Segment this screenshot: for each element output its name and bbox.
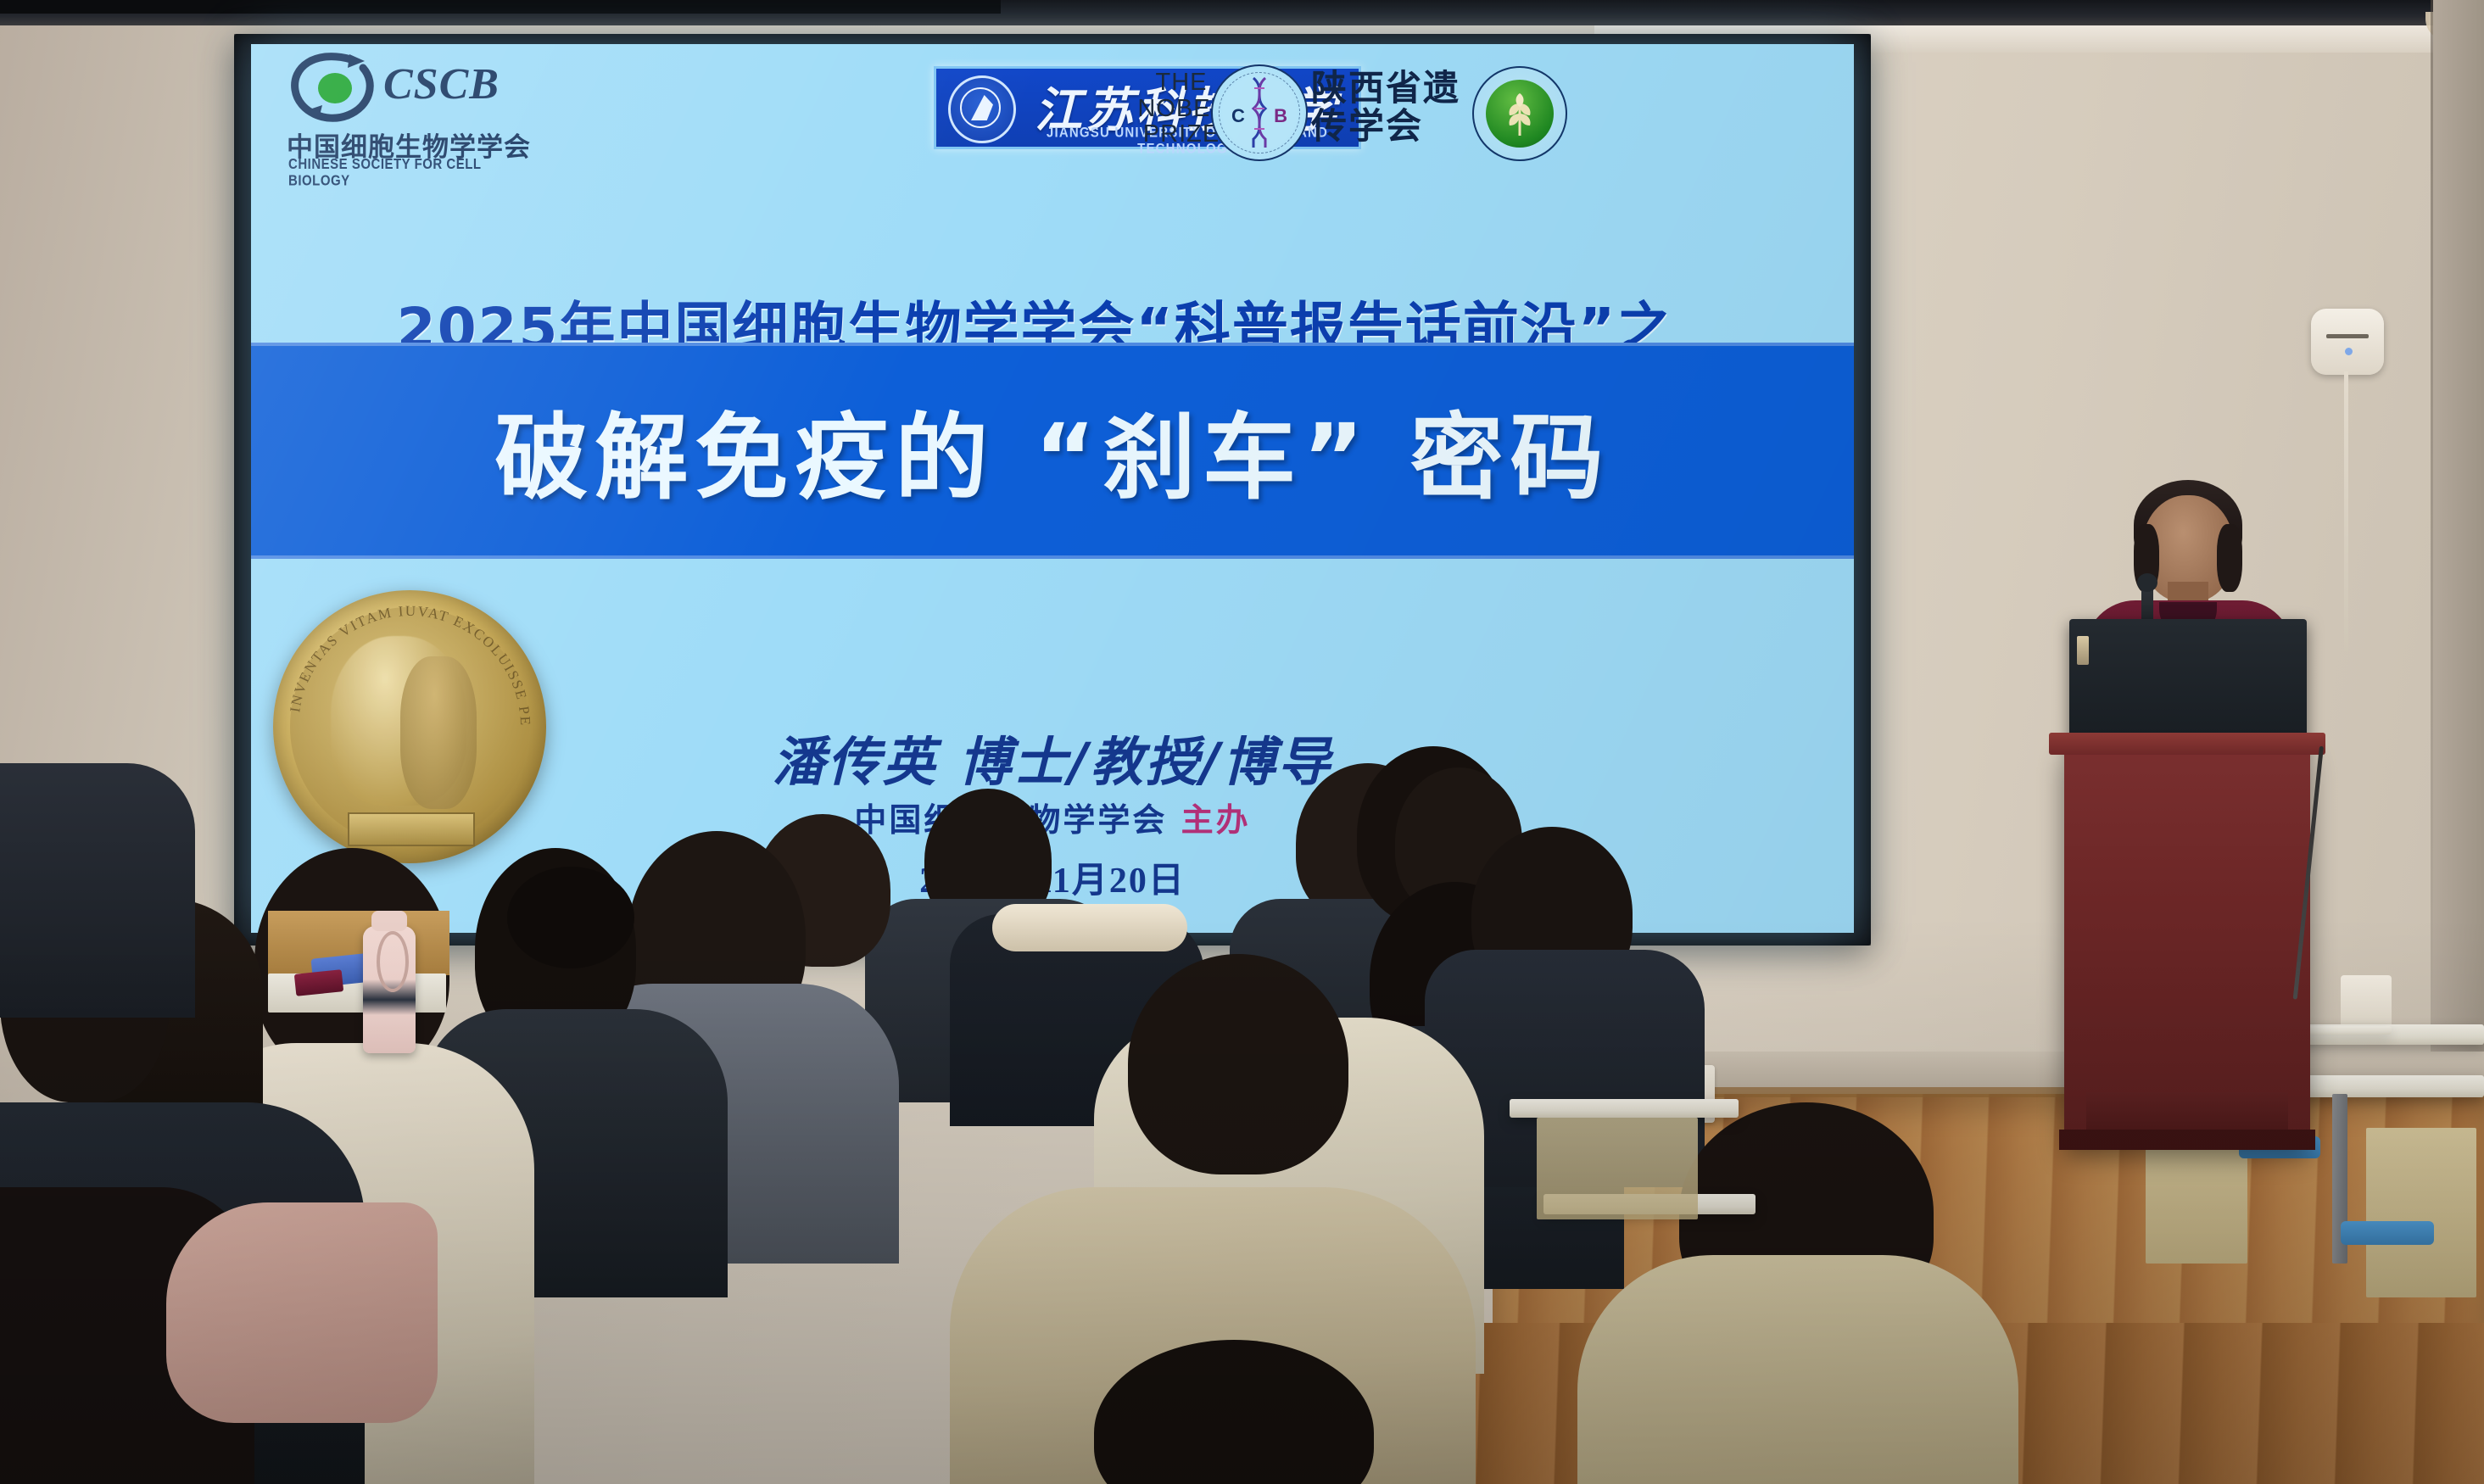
projection-screen: CSCB 中国细胞生物学学会 CHINESE SOCIETY FOR CELL … <box>251 44 1854 933</box>
wooden-lectern <box>2064 746 2310 1145</box>
dna-helix-icon <box>1251 76 1268 149</box>
water-bottle[interactable] <box>363 926 416 1053</box>
svg-text:INVENTAS VITAM IUVAT EXCOLUISS: INVENTAS VITAM IUVAT EXCOLUISSE PER ARTE… <box>273 590 533 727</box>
audience-desk-right <box>1510 1099 1739 1118</box>
shaanxi-genetics-society-logo: 陕西省遗传学会 <box>1311 70 1464 145</box>
slide-host-line: 中国细胞生物学学会 主办 <box>251 794 1854 840</box>
audience-desk-panel <box>1537 1118 1698 1219</box>
university-seal-icon <box>948 75 1016 143</box>
wifi-access-point-icon <box>2311 309 2384 375</box>
audience-coat-beige <box>1577 1255 2018 1484</box>
host-suffix: 主办 <box>1167 801 1250 839</box>
csb-letter-b: B <box>1274 105 1287 127</box>
sail-mark <box>971 95 993 120</box>
lecture-hall-photo: CSCB 中国细胞生物学学会 CHINESE SOCIETY FOR CELL … <box>0 0 2484 1484</box>
access-point-label <box>2326 334 2369 338</box>
bottle-cap[interactable] <box>371 911 407 931</box>
ceiling-rail-dark-segment <box>0 0 1001 14</box>
slide-headline: 破解免疫的 “刹车” 密码 <box>251 382 1854 517</box>
csb-letter-c: C <box>1231 105 1245 127</box>
bottle-strap <box>377 931 409 992</box>
cscb-ring-icon <box>288 53 380 122</box>
audience-head <box>1128 954 1348 1174</box>
wheat-icon <box>1503 86 1537 137</box>
monitor-badge <box>2077 636 2089 665</box>
cscb-logo: CSCB 中国细胞生物学学会 CHINESE SOCIETY FOR CELL … <box>285 51 539 170</box>
fur-hood-trim <box>992 904 1187 951</box>
slide-logo-row: CSCB 中国细胞生物学学会 CHINESE SOCIETY FOR CELL … <box>251 44 1854 180</box>
slide-title-band: 破解免疫的 “刹车” 密码 <box>251 343 1854 559</box>
nwafu-logo <box>1472 66 1567 161</box>
cscb-acronym: CSCB <box>383 63 500 107</box>
pink-hood <box>166 1202 438 1423</box>
audience-coat-dark-far-left <box>0 763 195 1018</box>
slide-speaker-name: 潘传英 博士/教授/博导 <box>251 719 1854 795</box>
lectern-foot <box>2059 1130 2315 1150</box>
access-point-led <box>2345 348 2353 355</box>
speaker-hair-side-right <box>2217 524 2242 592</box>
csb-society-logo: C B <box>1211 64 1308 161</box>
audience-head-bun <box>507 867 634 968</box>
side-table-front-panel <box>2366 1128 2476 1297</box>
cscb-english-name: CHINESE SOCIETY FOR CELL BIOLOGY <box>288 156 539 189</box>
chair-blue-front <box>2341 1221 2434 1245</box>
lectern-top <box>2049 733 2325 755</box>
access-point-cable <box>2344 371 2348 651</box>
